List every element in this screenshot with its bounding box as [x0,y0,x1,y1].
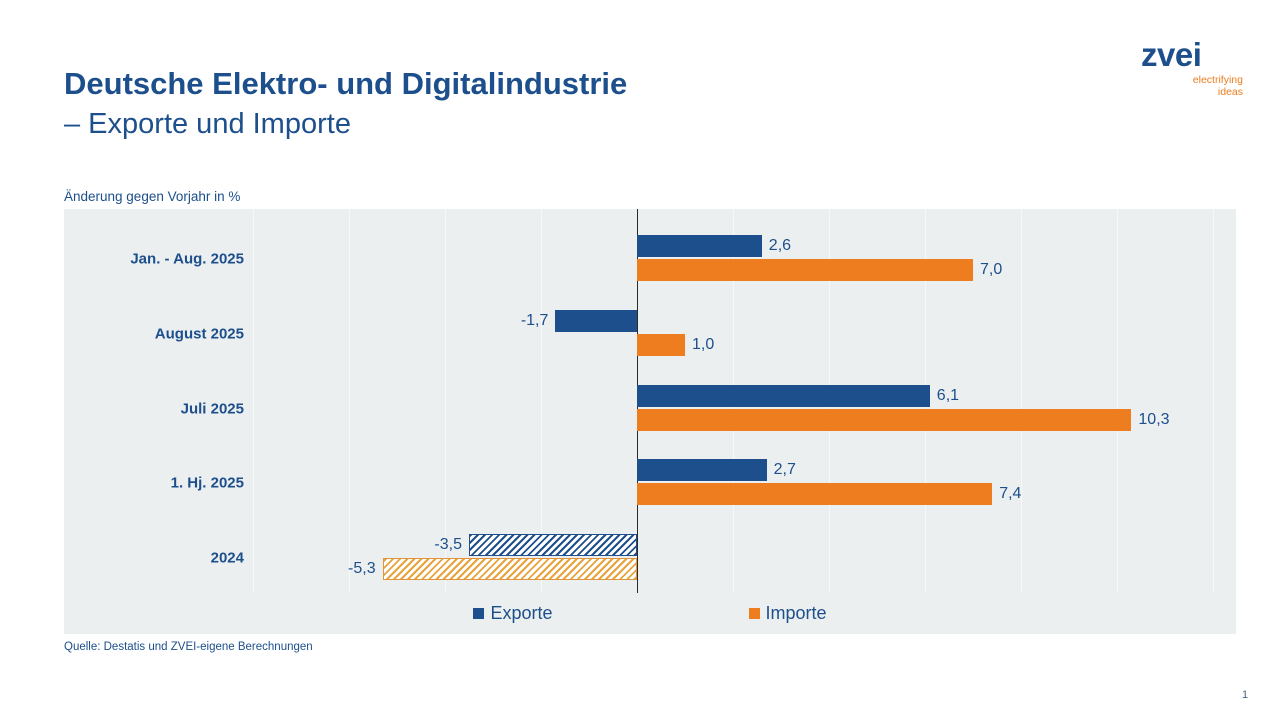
title-line-2: – Exporte und Importe [64,104,627,144]
legend-item-importe[interactable]: Importe [749,603,827,624]
chart-bar-importe[interactable] [637,483,992,505]
page-title: Deutsche Elektro- und Digitalindustrie –… [64,64,627,144]
source-note: Quelle: Destatis und ZVEI-eigene Berechn… [64,641,313,653]
legend-item-exporte[interactable]: Exporte [473,603,552,624]
zvei-logo: zvei electrifying ideas [1141,38,1251,98]
chart-bar-exporte[interactable] [469,534,637,556]
legend-swatch-icon-exporte [473,608,484,619]
chart-bar-exporte[interactable] [637,235,762,257]
legend-swatch-icon-importe [749,608,760,619]
chart-bar-value-label: 2,7 [774,459,796,481]
slide: zvei electrifying ideas Deutsche Elektro… [0,0,1280,720]
title-line-1: Deutsche Elektro- und Digitalindustrie [64,64,627,104]
chart-gridline [253,209,254,593]
chart-category-label: August 2025 [64,325,244,342]
chart-gridline [349,209,350,593]
chart-legend: Exporte Importe [64,600,1236,626]
legend-label-importe: Importe [766,603,827,624]
chart-bar-value-label: 6,1 [937,385,959,407]
chart-bar-importe[interactable] [637,409,1131,431]
chart-panel: Jan. - Aug. 20252,67,0August 2025-1,71,0… [64,209,1236,634]
chart-bar-importe[interactable] [637,259,973,281]
chart-bar-value-label: 7,0 [980,259,1002,281]
chart-category-label: 2024 [64,550,244,567]
chart-bar-value-label: 2,6 [769,235,791,257]
chart-category-label: 1. Hj. 2025 [64,475,244,492]
logo-wordmark: zvei [1141,38,1251,72]
logo-tagline-line2: ideas [1141,86,1243,98]
logo-tagline-line1: electrifying [1141,74,1243,86]
logo-tagline: electrifying ideas [1141,74,1251,98]
chart-gridline [1021,209,1022,593]
chart-bar-value-label: -3,5 [434,534,462,556]
chart-subtitle: Änderung gegen Vorjahr in % [64,189,240,204]
chart-gridline [1213,209,1214,593]
chart-gridline [1117,209,1118,593]
chart-category-label: Juli 2025 [64,400,244,417]
legend-label-exporte: Exporte [490,603,552,624]
chart-bar-importe[interactable] [383,558,637,580]
chart-bar-value-label: -5,3 [348,558,376,580]
chart-bar-value-label: 1,0 [692,334,714,356]
chart-bar-exporte[interactable] [555,310,637,332]
chart-bar-exporte[interactable] [637,459,767,481]
chart-bar-importe[interactable] [637,334,685,356]
chart-bar-value-label: -1,7 [521,310,549,332]
page-number: 1 [1242,689,1248,701]
chart-bar-exporte[interactable] [637,385,930,407]
chart-category-label: Jan. - Aug. 2025 [64,251,244,268]
chart-bar-value-label: 10,3 [1138,409,1169,431]
chart-plot-area: Jan. - Aug. 20252,67,0August 2025-1,71,0… [64,209,1236,634]
chart-bar-value-label: 7,4 [999,483,1021,505]
